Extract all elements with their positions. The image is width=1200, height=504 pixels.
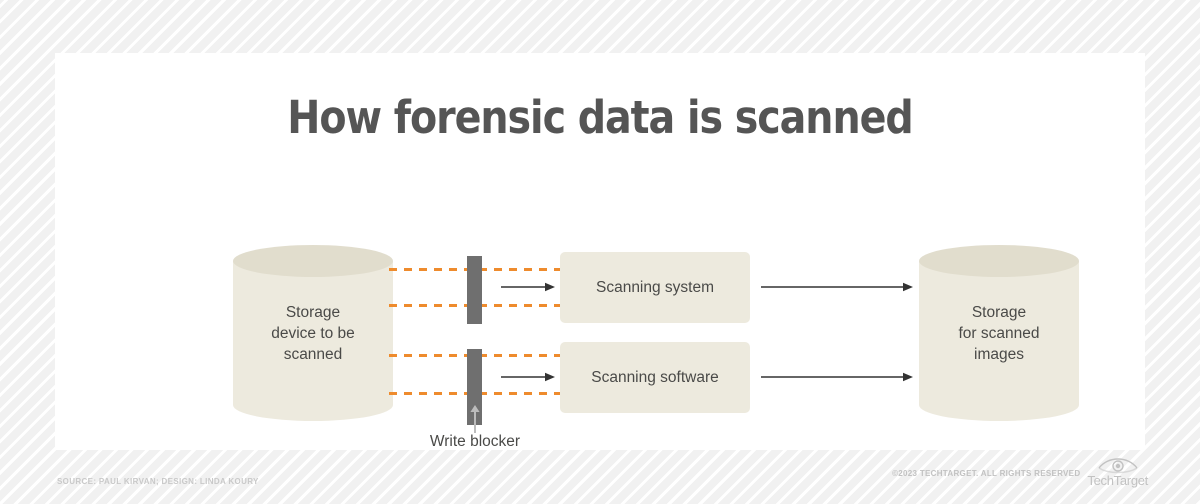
arrow-scanning-system-to-storage: [761, 281, 913, 293]
callout-arrow-up-icon: [467, 405, 483, 433]
write-blocker-label: Write blocker: [365, 433, 585, 451]
techtarget-logo: TechTarget: [1087, 455, 1148, 488]
arrow-blocker-to-scanning-system: [501, 281, 555, 293]
infographic-card: How forensic data is scanned Storage dev…: [55, 53, 1145, 450]
arrow-scanning-software-to-storage: [761, 371, 913, 383]
eye-icon: [1096, 455, 1140, 475]
right-storage-cylinder: Storage for scanned images: [919, 245, 1079, 421]
scanning-software-box: Scanning software: [560, 342, 750, 413]
footer-copyright: ©2023 TECHTARGET. ALL RIGHTS RESERVED: [892, 469, 1080, 488]
arrow-blocker-to-scanning-software: [501, 371, 555, 383]
scanning-system-box: Scanning system: [560, 252, 750, 323]
right-storage-label: Storage for scanned images: [919, 245, 1079, 421]
footer-right-group: ©2023 TECHTARGET. ALL RIGHTS RESERVED Te…: [892, 455, 1148, 488]
scanning-system-label: Scanning system: [596, 279, 714, 297]
techtarget-logo-text: TechTarget: [1087, 473, 1148, 488]
footer-source: SOURCE: PAUL KIRVAN; DESIGN: LINDA KOURY: [57, 477, 259, 486]
left-storage-cylinder: Storage device to be scanned: [233, 245, 393, 421]
left-storage-label: Storage device to be scanned: [233, 245, 393, 421]
scanning-software-label: Scanning software: [591, 369, 719, 387]
diagram-canvas: Storage device to be scanned Scanning sy…: [55, 53, 1145, 450]
write-blocker-bar-top: [467, 256, 482, 324]
